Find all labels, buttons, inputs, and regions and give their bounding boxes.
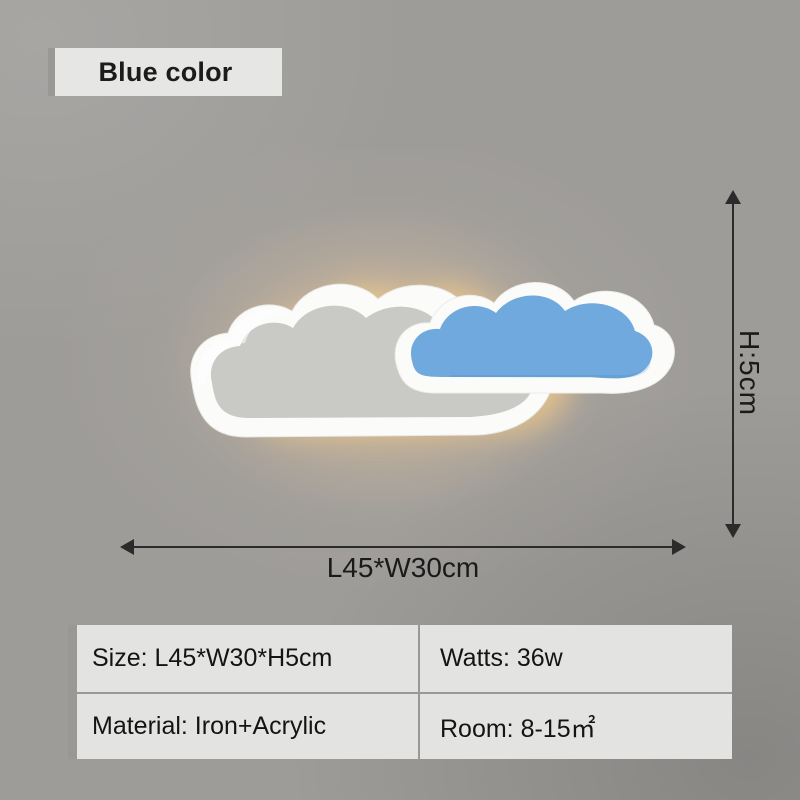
table-row: Material: Iron+Acrylic Room: 8-15㎡ [68, 692, 732, 759]
color-variant-label: Blue color [55, 57, 282, 88]
table-row: Size: L45*W30*H5cm Watts: 36w [68, 625, 732, 692]
spec-size: Size: L45*W30*H5cm [68, 625, 420, 692]
horizontal-dimension-label: L45*W30cm [327, 552, 480, 583]
color-variant-badge: Blue color [48, 48, 282, 96]
product-photo-scene: Blue color [0, 0, 800, 800]
spec-watts: Watts: 36w [420, 625, 732, 692]
horizontal-dimension-label-wrap: L45*W30cm [120, 552, 686, 584]
dimension-rule [128, 546, 678, 548]
cloud-lamp [150, 255, 680, 470]
arrow-down-icon [725, 524, 741, 538]
spec-table-accent-bar [68, 625, 77, 759]
spec-room: Room: 8-15㎡ [420, 694, 732, 759]
vertical-dimension-label: H:5cm [733, 330, 765, 416]
badge-accent-bar [48, 48, 55, 96]
spec-table: Size: L45*W30*H5cm Watts: 36w Material: … [68, 625, 732, 759]
spec-material: Material: Iron+Acrylic [68, 694, 420, 759]
